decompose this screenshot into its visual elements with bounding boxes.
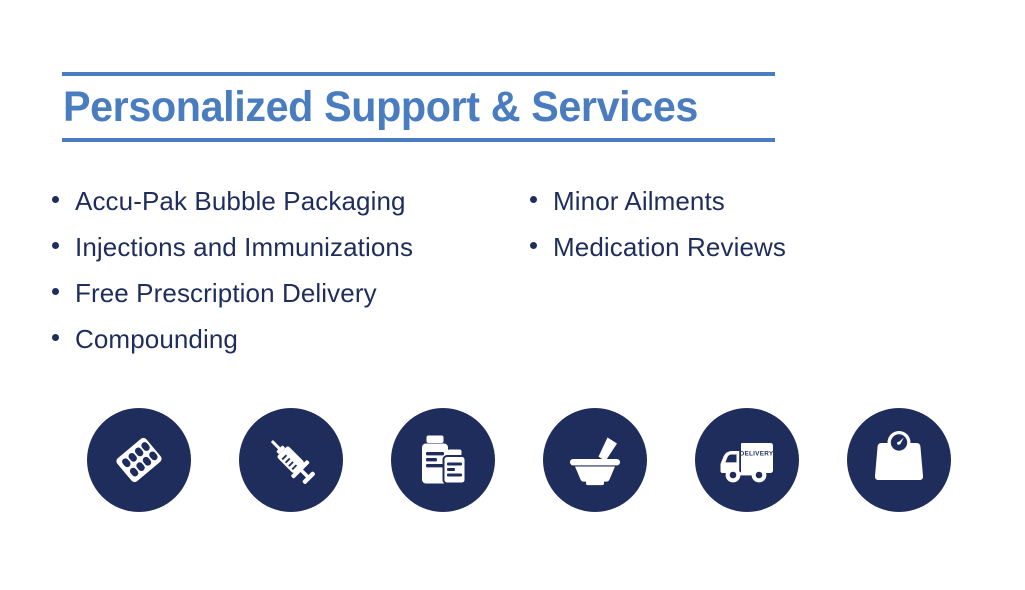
services-list-left: Accu-Pak Bubble Packaging Injections and… — [52, 178, 530, 362]
pill-bottles-icon — [413, 430, 473, 490]
delivery-van-body-text: DELIVERY — [740, 451, 774, 458]
syringe-icon — [260, 429, 322, 491]
bullet-icon — [530, 242, 537, 249]
services-list-right: Minor Ailments Medication Reviews — [530, 178, 930, 270]
list-item: Medication Reviews — [530, 224, 930, 270]
list-item: Minor Ailments — [530, 178, 930, 224]
list-item-label: Accu-Pak Bubble Packaging — [75, 178, 406, 224]
bullet-icon — [52, 196, 59, 203]
delivery-van-icon: DELIVERY — [714, 427, 780, 493]
slide-canvas: Personalized Support & Services Accu-Pak… — [0, 0, 1025, 590]
icon-badge-weight-scale — [847, 408, 951, 512]
title-block: Personalized Support & Services — [62, 72, 775, 142]
icon-badge-pill-bottles — [391, 408, 495, 512]
list-item: Free Prescription Delivery — [52, 270, 530, 316]
list-item-label: Minor Ailments — [553, 178, 725, 224]
bullet-icon — [530, 196, 537, 203]
list-item: Injections and Immunizations — [52, 224, 530, 270]
list-item: Accu-Pak Bubble Packaging — [52, 178, 530, 224]
list-item-label: Injections and Immunizations — [75, 224, 413, 270]
list-item: Compounding — [52, 316, 530, 362]
icon-badge-delivery-van: DELIVERY — [695, 408, 799, 512]
icon-badge-mortar-pestle — [543, 408, 647, 512]
page-title: Personalized Support & Services — [62, 76, 746, 138]
services-lists: Accu-Pak Bubble Packaging Injections and… — [52, 178, 952, 362]
weight-scale-icon — [869, 430, 929, 490]
title-rule-bottom — [62, 138, 775, 142]
list-item-label: Medication Reviews — [553, 224, 786, 270]
mortar-pestle-icon — [564, 429, 626, 491]
list-item-label: Free Prescription Delivery — [75, 270, 377, 316]
blister-pack-icon — [108, 429, 170, 491]
bullet-icon — [52, 334, 59, 341]
service-icon-row: DELIVERY — [87, 408, 951, 512]
icon-badge-syringe — [239, 408, 343, 512]
bullet-icon — [52, 288, 59, 295]
list-item-label: Compounding — [75, 316, 238, 362]
icon-badge-blister-pack — [87, 408, 191, 512]
bullet-icon — [52, 242, 59, 249]
